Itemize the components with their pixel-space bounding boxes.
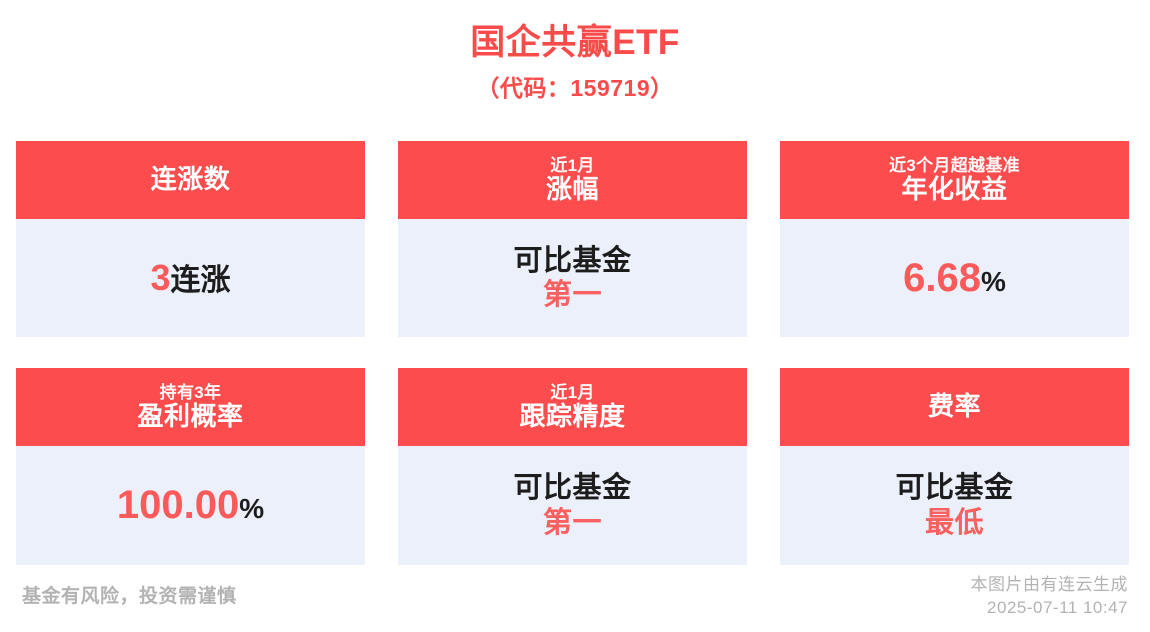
metric-value-suffix: 连涨 [171,264,231,298]
metric-card-header: 费率 [780,368,1129,446]
poster-footer: 基金有风险，投资需谨慎 本图片由有连云生成 2025-07-11 10:47 [0,574,1150,620]
metric-card-grid: 连涨数 3 连涨 近1月 涨幅 可比基金 第一 近3个月超越基准 [16,141,1134,565]
metric-subtitle: 近1月 [550,156,594,175]
fund-code-label: （代码：159719） [0,74,1150,104]
metric-card-body: 3 连涨 [16,219,365,337]
metric-title: 跟踪精度 [519,402,625,431]
metric-card-body: 6.68 % [780,219,1129,337]
metric-card-header: 近1月 跟踪精度 [398,368,747,446]
generation-credit: 本图片由有连云生成 2025-07-11 10:47 [971,574,1129,620]
metric-card-header: 近1月 涨幅 [398,141,747,219]
metric-card-header: 持有3年 盈利概率 [16,368,365,446]
metric-value-number: 100.00 [117,483,239,528]
credit-timestamp: 2025-07-11 10:47 [971,597,1129,620]
page-title: 国企共赢ETF [0,20,1150,66]
metric-value-bottom: 第一 [543,279,602,311]
metric-card-feilv[interactable]: 费率 可比基金 最低 [780,368,1129,565]
metric-value-top: 可比基金 [895,472,1013,504]
metric-card-body: 可比基金 第一 [398,219,747,337]
metric-value: 6.68 % [903,256,1006,301]
metric-subtitle: 近3个月超越基准 [889,156,1020,175]
metric-card-header: 近3个月超越基准 年化收益 [780,141,1129,219]
metric-card-nianhuashouyi[interactable]: 近3个月超越基准 年化收益 6.68 % [780,141,1129,337]
metric-value-top: 可比基金 [513,472,631,504]
metric-subtitle: 近1月 [550,383,594,402]
metric-value-suffix: % [239,493,264,524]
metric-card-body: 可比基金 最低 [780,446,1129,565]
metric-card-genzongjingdu[interactable]: 近1月 跟踪精度 可比基金 第一 [398,368,747,565]
credit-source: 本图片由有连云生成 [971,574,1129,597]
metric-title: 盈利概率 [137,402,243,431]
metric-subtitle: 持有3年 [160,383,222,402]
metric-value: 100.00 % [117,483,264,528]
etf-metrics-poster: 国企共赢ETF （代码：159719） 连涨数 3 连涨 近1月 涨幅 [0,0,1150,632]
risk-disclaimer: 基金有风险，投资需谨慎 [22,581,237,620]
metric-title: 连涨数 [151,165,231,194]
metric-value-bottom: 最低 [925,507,984,539]
metric-card-lianzhangshu[interactable]: 连涨数 3 连涨 [16,141,365,337]
metric-card-body: 100.00 % [16,446,365,565]
metric-card-zhangfu[interactable]: 近1月 涨幅 可比基金 第一 [398,141,747,337]
metric-value-number: 3 [150,258,170,298]
metric-title: 涨幅 [546,175,599,204]
metric-value-number: 6.68 [903,256,981,301]
metric-value-suffix: % [981,266,1006,297]
metric-title: 年化收益 [901,175,1007,204]
metric-value-bottom: 第一 [543,507,602,539]
metric-value: 3 连涨 [150,258,230,298]
metric-card-yinglijianglv[interactable]: 持有3年 盈利概率 100.00 % [16,368,365,565]
metric-card-header: 连涨数 [16,141,365,219]
metric-title: 费率 [928,392,981,421]
metric-card-body: 可比基金 第一 [398,446,747,565]
metric-value-top: 可比基金 [513,245,631,277]
poster-header: 国企共赢ETF （代码：159719） [0,0,1150,103]
